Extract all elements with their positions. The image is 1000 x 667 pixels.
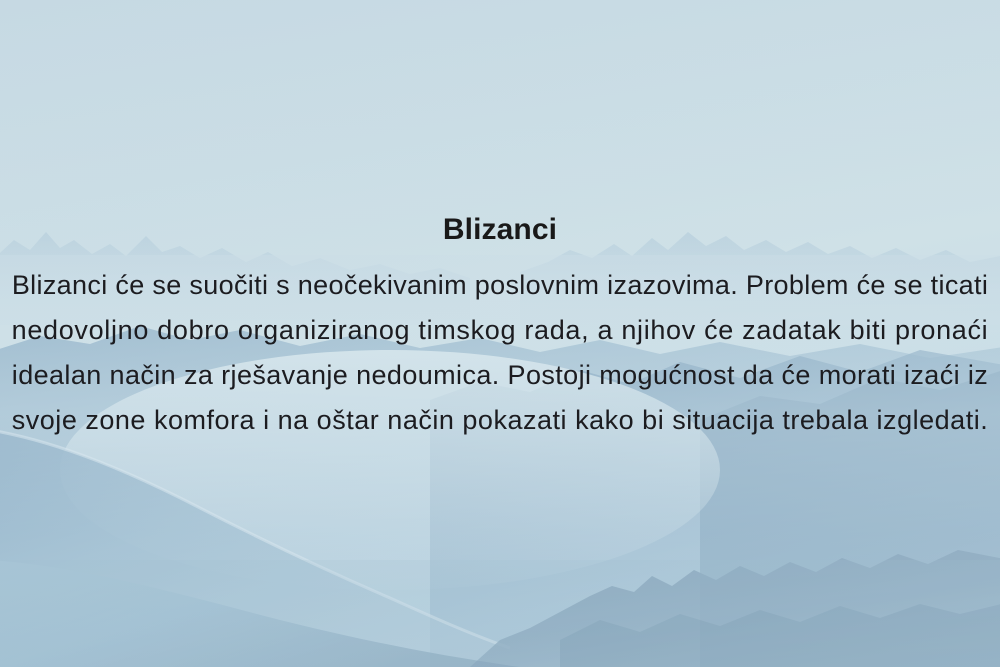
horoscope-body-text: Blizanci će se suočiti s neočekivanim po…: [0, 263, 1000, 443]
body-line: svoje zone komfora i na oštar način poka…: [0, 398, 1000, 443]
body-line: nedovoljno dobro organiziranog timskog r…: [0, 308, 1000, 353]
horoscope-card: Blizanci Blizanci će se suočiti s neoček…: [0, 0, 1000, 667]
horoscope-sign-title: Blizanci: [0, 213, 1000, 247]
body-line: Blizanci će se suočiti s neočekivanim po…: [0, 263, 1000, 308]
body-line: idealan način za rješavanje nedoumica. P…: [0, 353, 1000, 398]
bottom-vignette: [0, 560, 1000, 667]
